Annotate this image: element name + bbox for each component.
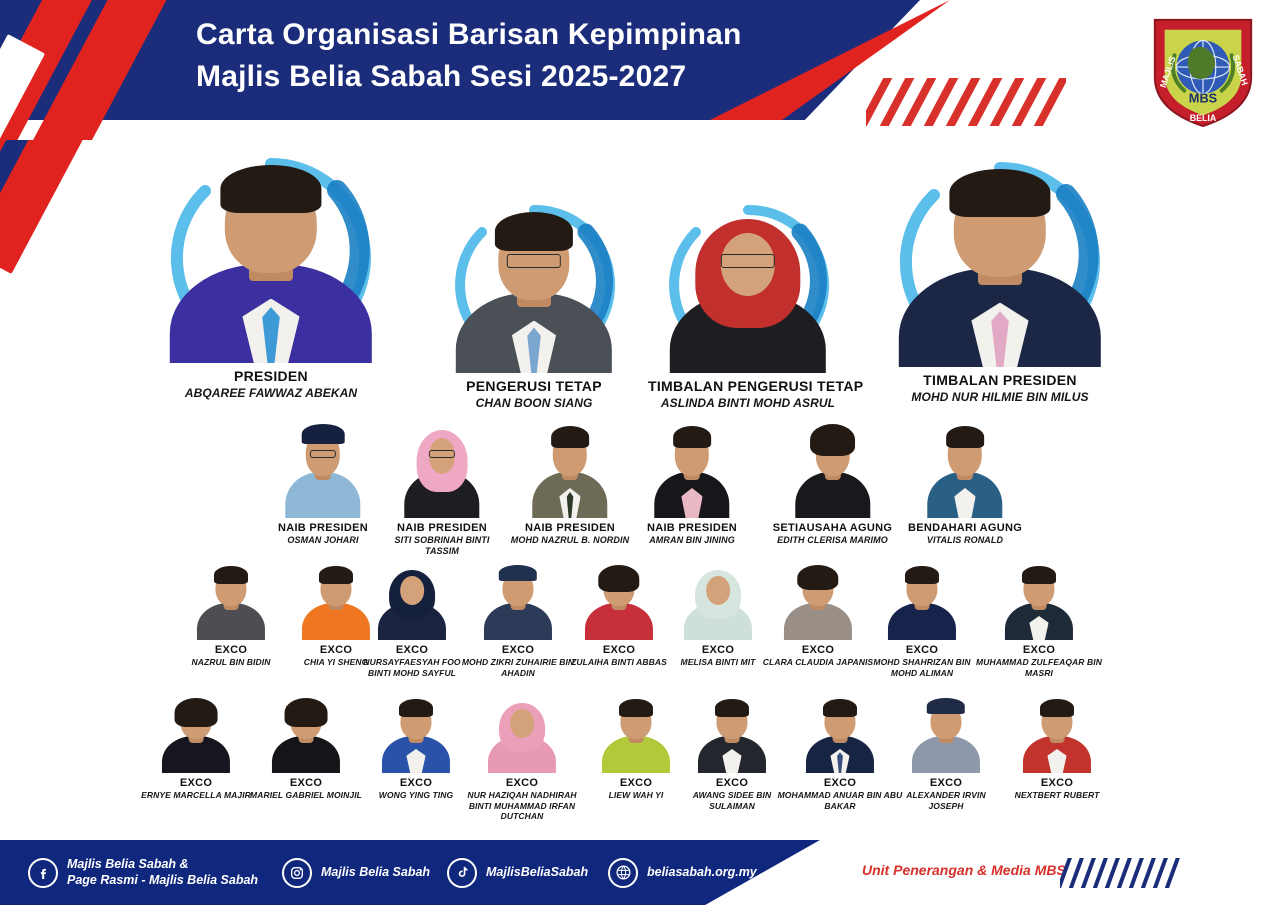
tiktok-handle: MajlisBeliaSabah — [486, 865, 588, 881]
portrait-exco-16 — [803, 693, 877, 773]
person-name: VITALIS RONALD — [895, 535, 1035, 545]
instagram-icon[interactable] — [282, 858, 312, 888]
person-name: ALEXANDER IRVIN JOSEPH — [888, 790, 1004, 810]
person-card-exco-6: EXCO MELISA BINTI MIT — [662, 560, 774, 668]
globe-icon[interactable] — [608, 858, 638, 888]
person-card-exco-17: EXCO ALEXANDER IRVIN JOSEPH — [888, 693, 1004, 811]
role-label: EXCO — [175, 644, 287, 656]
role-label: EXCO — [563, 644, 675, 656]
footer-tiktok[interactable]: MajlisBeliaSabah — [447, 840, 588, 905]
portrait-exco-13 — [485, 693, 559, 773]
title-line-1: Carta Organisasi Barisan Kepimpinan — [196, 14, 876, 56]
left-decoration — [0, 140, 300, 500]
person-name: MUHAMMAD ZULFEAQAR BIN MASRI — [975, 657, 1103, 677]
person-name: NEXTBERT RUBERT — [995, 790, 1119, 800]
instagram-handle: Majlis Belia Sabah — [321, 865, 430, 881]
person-card-bendahari-agung: BENDAHARI AGUNG VITALIS RONALD — [895, 418, 1035, 546]
portrait-exco-4 — [481, 560, 555, 640]
person-card-setiausaha-agung: SETIAUSAHA AGUNG EDITH CLERISA MARIMO — [760, 418, 905, 546]
role-label: EXCO — [458, 644, 578, 656]
person-card-exco-3: EXCO NURSAYFAESYAH FOO BINTI MOHD SAYFUL — [353, 560, 471, 678]
person-name: MOHD NUR HILMIE BIN MILUS — [880, 391, 1120, 405]
portrait-exco-10 — [159, 693, 233, 773]
role-label: PENGERUSI TETAP — [444, 379, 624, 395]
person-card-naib-presiden-2: NAIB PRESIDEN SITI SOBRINAH BINTI TASSIM — [382, 418, 502, 556]
portrait-timbalan-presiden — [890, 152, 1110, 367]
portrait-exco-7 — [781, 560, 855, 640]
person-name: EDITH CLERISA MARIMO — [760, 535, 905, 545]
portrait-exco-8 — [885, 560, 959, 640]
poster-title: Carta Organisasi Barisan Kepimpinan Majl… — [196, 14, 876, 98]
media-credit: Unit Penerangan & Media MBS — [862, 862, 1066, 878]
tiktok-icon[interactable] — [447, 858, 477, 888]
person-card-exco-1: EXCO NAZRUL BIN BIDIN — [175, 560, 287, 668]
person-name: MARIEL GABRIEL MOINJIL — [250, 790, 362, 800]
svg-text:BELIA: BELIA — [1190, 113, 1217, 123]
footer-website[interactable]: beliasabah.org.my — [608, 840, 757, 905]
role-label: EXCO — [995, 777, 1119, 789]
person-name: ASLINDA BINTI MOHD ASRUL — [648, 397, 848, 411]
person-name: ZULAIHA BINTI ABBAS — [563, 657, 675, 667]
person-name: ERNYE MARCELLA MAJIR — [140, 790, 252, 800]
role-label: EXCO — [140, 777, 252, 789]
person-name: OSMAN JOHARI — [263, 535, 383, 545]
person-card-exco-9: EXCO MUHAMMAD ZULFEAQAR BIN MASRI — [975, 560, 1103, 678]
role-label: EXCO — [862, 644, 982, 656]
person-card-naib-presiden-3: NAIB PRESIDEN MOHD NAZRUL B. NORDIN — [500, 418, 640, 546]
poster-footer: Majlis Belia Sabah & Page Rasmi - Majlis… — [0, 840, 1280, 905]
role-label: NAIB PRESIDEN — [500, 522, 640, 534]
svg-text:MBS: MBS — [1189, 90, 1218, 105]
portrait-exco-6 — [681, 560, 755, 640]
person-card-exco-5: EXCO ZULAIHA BINTI ABBAS — [563, 560, 675, 668]
mbs-shield-logo-icon: MBS MAJLIS SABAH BELIA — [1148, 12, 1258, 130]
portrait-setiausaha-agung — [792, 418, 874, 518]
footer-instagram[interactable]: Majlis Belia Sabah — [282, 840, 430, 905]
role-label: TIMBALAN PRESIDEN — [880, 373, 1120, 389]
role-label: EXCO — [776, 777, 904, 789]
person-name: NAZRUL BIN BIDIN — [175, 657, 287, 667]
portrait-exco-15 — [695, 693, 769, 773]
portrait-exco-12 — [379, 693, 453, 773]
person-card-exco-4: EXCO MOHD ZIKRI ZUHAIRIE BIN AHADIN — [458, 560, 578, 678]
person-name: MOHD ZIKRI ZUHAIRIE BIN AHADIN — [458, 657, 578, 677]
person-card-exco-18: EXCO NEXTBERT RUBERT — [995, 693, 1119, 801]
person-card-exco-7: EXCO CLARA CLAUDIA JAPANIS — [762, 560, 874, 668]
footer-facebook[interactable]: Majlis Belia Sabah & Page Rasmi - Majlis… — [28, 840, 258, 905]
role-label: SETIAUSAHA AGUNG — [760, 522, 905, 534]
header-diagonal-stripes — [866, 78, 1066, 126]
person-card-exco-13: EXCO NUR HAZIQAH NADHIRAH BINTI MUHAMMAD… — [456, 693, 588, 821]
portrait-exco-9 — [1002, 560, 1076, 640]
person-card-exco-10: EXCO ERNYE MARCELLA MAJIR — [140, 693, 252, 801]
role-label: TIMBALAN PENGERUSI TETAP — [648, 379, 848, 395]
portrait-naib-presiden-3 — [529, 418, 611, 518]
portrait-naib-presiden-4 — [651, 418, 733, 518]
chart-body: PRESIDEN ABQAREE FAWWAZ ABEKAN — [0, 140, 1280, 840]
person-name: NUR HAZIQAH NADHIRAH BINTI MUHAMMAD IRFA… — [456, 790, 588, 821]
footer-diagonal-stripes — [1060, 858, 1190, 888]
role-label: EXCO — [975, 644, 1103, 656]
role-label: EXCO — [353, 644, 471, 656]
person-name: AWANG SIDEE BIN SULAIMAN — [672, 790, 792, 810]
portrait-exco-11 — [269, 693, 343, 773]
poster-header: Carta Organisasi Barisan Kepimpinan Majl… — [0, 0, 1280, 140]
portrait-exco-1 — [194, 560, 268, 640]
role-label: NAIB PRESIDEN — [382, 522, 502, 534]
person-name: NURSAYFAESYAH FOO BINTI MOHD SAYFUL — [353, 657, 471, 677]
role-label: EXCO — [762, 644, 874, 656]
portrait-figure — [449, 198, 619, 373]
portrait-bendahari-agung — [924, 418, 1006, 518]
person-card-pengerusi-tetap: PENGERUSI TETAP CHAN BOON SIANG — [444, 198, 624, 410]
role-label: EXCO — [888, 777, 1004, 789]
facebook-handle: Majlis Belia Sabah & Page Rasmi - Majlis… — [67, 857, 258, 888]
role-label: NAIB PRESIDEN — [263, 522, 383, 534]
person-name: CHAN BOON SIANG — [444, 397, 624, 411]
person-card-exco-15: EXCO AWANG SIDEE BIN SULAIMAN — [672, 693, 792, 811]
portrait-exco-3 — [375, 560, 449, 640]
person-card-exco-11: EXCO MARIEL GABRIEL MOINJIL — [250, 693, 362, 801]
person-name: SITI SOBRINAH BINTI TASSIM — [382, 535, 502, 556]
role-label: EXCO — [672, 777, 792, 789]
person-name: MELISA BINTI MIT — [662, 657, 774, 667]
person-name: MOHD NAZRUL B. NORDIN — [500, 535, 640, 545]
title-line-2: Majlis Belia Sabah Sesi 2025-2027 — [196, 56, 876, 98]
person-name: MOHD SHAHRIZAN BIN MOHD ALIMAN — [862, 657, 982, 677]
person-name: MOHAMMAD ANUAR BIN ABU BAKAR — [776, 790, 904, 810]
portrait-exco-17 — [909, 693, 983, 773]
organisation-chart-poster: Carta Organisasi Barisan Kepimpinan Majl… — [0, 0, 1280, 905]
portrait-exco-14 — [599, 693, 673, 773]
portrait-naib-presiden-2 — [401, 418, 483, 518]
person-name: CLARA CLAUDIA JAPANIS — [762, 657, 874, 667]
facebook-icon[interactable] — [28, 858, 58, 888]
portrait-pengerusi-tetap — [449, 198, 619, 373]
role-label: BENDAHARI AGUNG — [895, 522, 1035, 534]
role-label: NAIB PRESIDEN — [632, 522, 752, 534]
portrait-figure — [663, 198, 833, 373]
person-card-timbalan-pengerusi-tetap: TIMBALAN PENGERUSI TETAP ASLINDA BINTI M… — [648, 198, 848, 410]
website-url: beliasabah.org.my — [647, 865, 757, 881]
portrait-figure — [890, 152, 1110, 367]
person-card-timbalan-presiden: TIMBALAN PRESIDEN MOHD NUR HILMIE BIN MI… — [880, 152, 1120, 404]
role-label: EXCO — [662, 644, 774, 656]
person-card-exco-16: EXCO MOHAMMAD ANUAR BIN ABU BAKAR — [776, 693, 904, 811]
person-card-exco-8: EXCO MOHD SHAHRIZAN BIN MOHD ALIMAN — [862, 560, 982, 678]
person-name: AMRAN BIN JINING — [632, 535, 752, 545]
portrait-timbalan-pengerusi-tetap — [663, 198, 833, 373]
portrait-exco-18 — [1020, 693, 1094, 773]
portrait-exco-5 — [582, 560, 656, 640]
person-card-naib-presiden-4: NAIB PRESIDEN AMRAN BIN JINING — [632, 418, 752, 546]
role-label: EXCO — [250, 777, 362, 789]
role-label: EXCO — [456, 777, 588, 789]
